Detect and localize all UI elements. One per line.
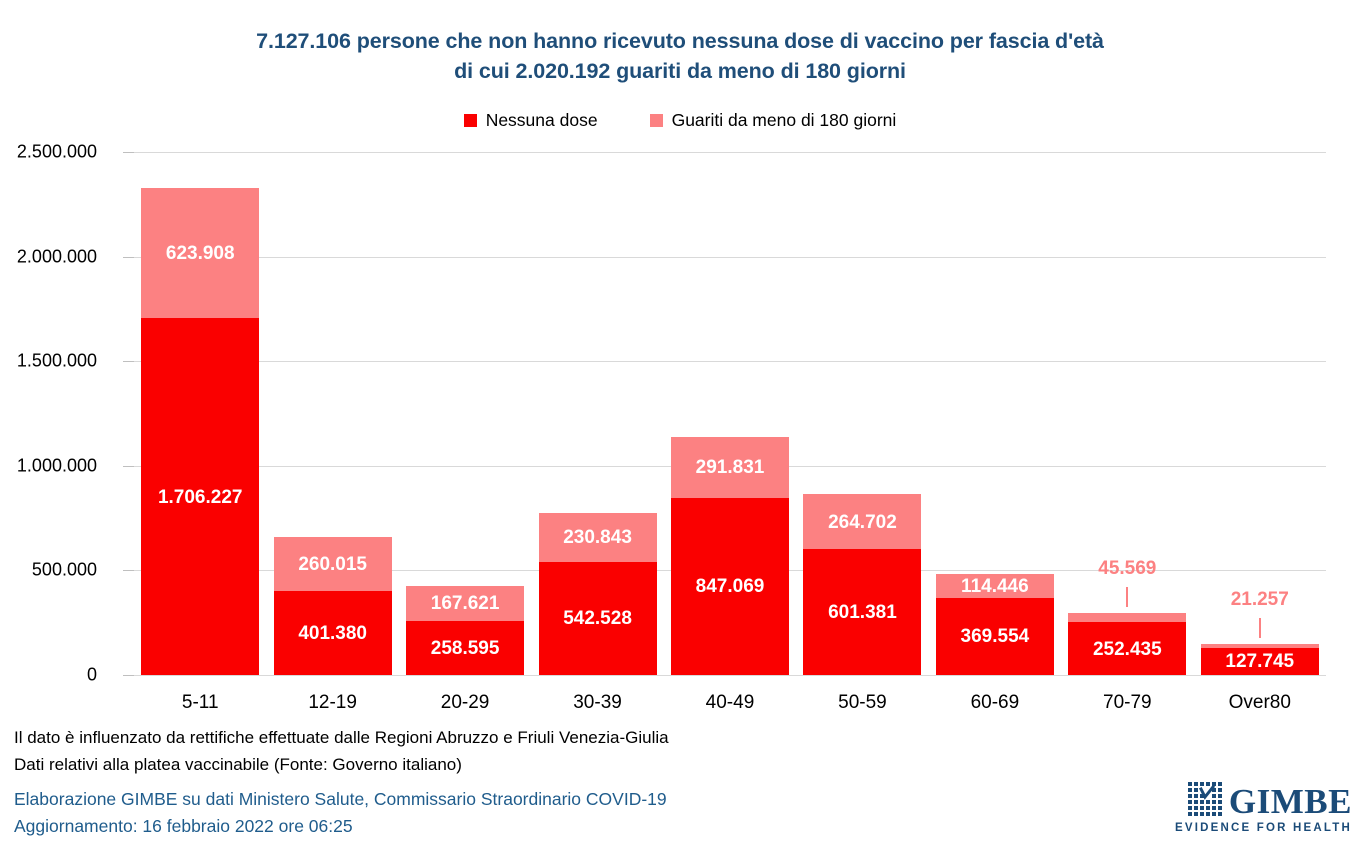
legend-label-nessuna-dose: Nessuna dose [486,110,598,131]
bar-group[interactable]: 1.706.227623.908 [141,188,259,675]
label-leader-line [1259,618,1261,638]
x-axis-label: 60-69 [929,692,1061,714]
gimbe-logo: GIMBE EVIDENCE FOR HEALTH [1172,782,1352,840]
bar-segment-guariti[interactable] [1068,613,1186,623]
gridline [134,361,1326,362]
gridline [134,152,1326,153]
bar-group[interactable]: 369.554114.446 [936,574,1054,675]
bar-value-label-guariti: 45.569 [1068,558,1186,580]
source-line-2: Aggiornamento: 16 febbraio 2022 ore 06:2… [14,813,667,840]
y-axis-tick [123,675,134,676]
bar-group[interactable]: 252.43545.569 [1068,613,1186,675]
y-axis-label: 1.500.000 [17,351,97,372]
bar-value-label-guariti: 291.831 [671,457,789,479]
bar-value-label-nessuna-dose: 252.435 [1068,639,1186,661]
x-axis-label: 30-39 [531,692,663,714]
bar-segment-guariti[interactable] [1201,644,1319,648]
bar-value-label-nessuna-dose: 127.745 [1201,651,1319,673]
y-axis-tick [123,570,134,571]
bar-value-label-nessuna-dose: 601.381 [803,602,921,624]
gridline [134,675,1326,676]
legend-swatch-nessuna-dose [464,114,477,127]
x-axis-label: 40-49 [664,692,796,714]
y-axis-tick [123,466,134,467]
bar-value-label-nessuna-dose: 1.706.227 [141,487,259,509]
chart-legend: Nessuna dose Guariti da meno di 180 gior… [0,110,1360,131]
logo-row: GIMBE [1188,782,1352,821]
bar-group[interactable]: 542.528230.843 [539,513,657,675]
legend-item-guariti[interactable]: Guariti da meno di 180 giorni [650,110,897,131]
legend-swatch-guariti [650,114,663,127]
y-axis-label: 0 [87,665,97,686]
chart-page: 7.127.106 persone che non hanno ricevuto… [0,0,1360,858]
bar-value-label-guariti: 230.843 [539,527,657,549]
footnotes: Il dato è influenzato da rettifiche effe… [14,724,1114,778]
bar-value-label-guariti: 167.621 [406,593,524,615]
gimbe-grid-icon [1188,782,1222,821]
y-axis-label: 2.500.000 [17,142,97,163]
y-axis-label: 2.000.000 [17,246,97,267]
y-axis-tick [123,152,134,153]
bar-value-label-nessuna-dose: 401.380 [274,623,392,645]
bar-value-label-guariti: 21.257 [1201,589,1319,611]
x-axis-label: 70-79 [1061,692,1193,714]
legend-label-guariti: Guariti da meno di 180 giorni [672,110,897,131]
plot-area: 0500.0001.000.0001.500.0002.000.0002.500… [134,152,1326,675]
title-line-1: 7.127.106 persone che non hanno ricevuto… [256,29,1104,53]
logo-tagline: EVIDENCE FOR HEALTH [1175,822,1352,834]
bar-value-label-nessuna-dose: 847.069 [671,576,789,598]
bar-value-label-guariti: 114.446 [936,576,1054,598]
bar-group[interactable]: 127.74521.257 [1201,644,1319,675]
logo-wordmark: GIMBE [1229,783,1352,821]
y-axis-tick [123,361,134,362]
x-axis-label: Over80 [1194,692,1326,714]
bar-value-label-nessuna-dose: 369.554 [936,626,1054,648]
gridline [134,257,1326,258]
source-line-1: Elaborazione GIMBE su dati Ministero Sal… [14,786,667,813]
footnote-1: Il dato è influenzato da rettifiche effe… [14,724,1114,751]
x-axis-label: 50-59 [796,692,928,714]
bar-group[interactable]: 258.595167.621 [406,586,524,675]
bar-value-label-guariti: 264.702 [803,512,921,534]
y-axis-tick [123,257,134,258]
x-axis-label: 12-19 [266,692,398,714]
source-block: Elaborazione GIMBE su dati Ministero Sal… [14,786,667,840]
page-title: 7.127.106 persone che non hanno ricevuto… [0,26,1360,86]
x-axis-label: 5-11 [134,692,266,714]
legend-item-nessuna-dose[interactable]: Nessuna dose [464,110,598,131]
bar-group[interactable]: 601.381264.702 [803,494,921,675]
x-axis-label: 20-29 [399,692,531,714]
label-leader-line [1126,587,1128,607]
title-line-2: di cui 2.020.192 guariti da meno di 180 … [0,56,1360,86]
bar-value-label-nessuna-dose: 258.595 [406,638,524,660]
y-axis-label: 1.000.000 [17,455,97,476]
bar-value-label-nessuna-dose: 542.528 [539,608,657,630]
footnote-2: Dati relativi alla platea vaccinabile (F… [14,751,1114,778]
bar-group[interactable]: 401.380260.015 [274,537,392,675]
bar-value-label-guariti: 260.015 [274,554,392,576]
y-axis-label: 500.000 [32,560,97,581]
bar-value-label-guariti: 623.908 [141,243,259,265]
bar-group[interactable]: 847.069291.831 [671,437,789,675]
